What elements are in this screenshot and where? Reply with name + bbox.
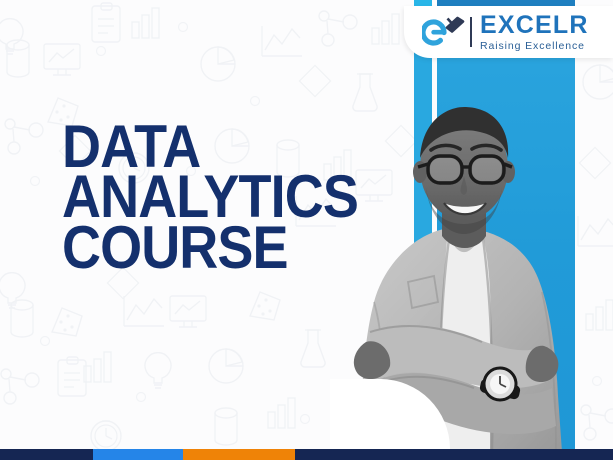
bottom-accent-bar	[0, 449, 613, 460]
logo-divider	[470, 17, 472, 47]
excelr-e-x-logo-icon	[422, 15, 468, 49]
headline-line-3: COURSE	[62, 223, 358, 273]
brand-logo-plate[interactable]: EXCELR Raising Excellence	[404, 6, 613, 58]
bottom-bar-segment-orange	[183, 449, 295, 460]
bottom-bar-segment-blue	[93, 449, 183, 460]
poster-canvas: EXCELR Raising Excellence DATA ANALYTICS…	[0, 0, 613, 460]
bottom-bar-segment-navy-left	[0, 449, 93, 460]
brand-text: EXCELR Raising Excellence	[480, 13, 589, 52]
bottom-bar-segment-navy-right	[295, 449, 613, 460]
brand-tagline: Raising Excellence	[480, 41, 589, 52]
brand-name: EXCELR	[480, 13, 589, 38]
